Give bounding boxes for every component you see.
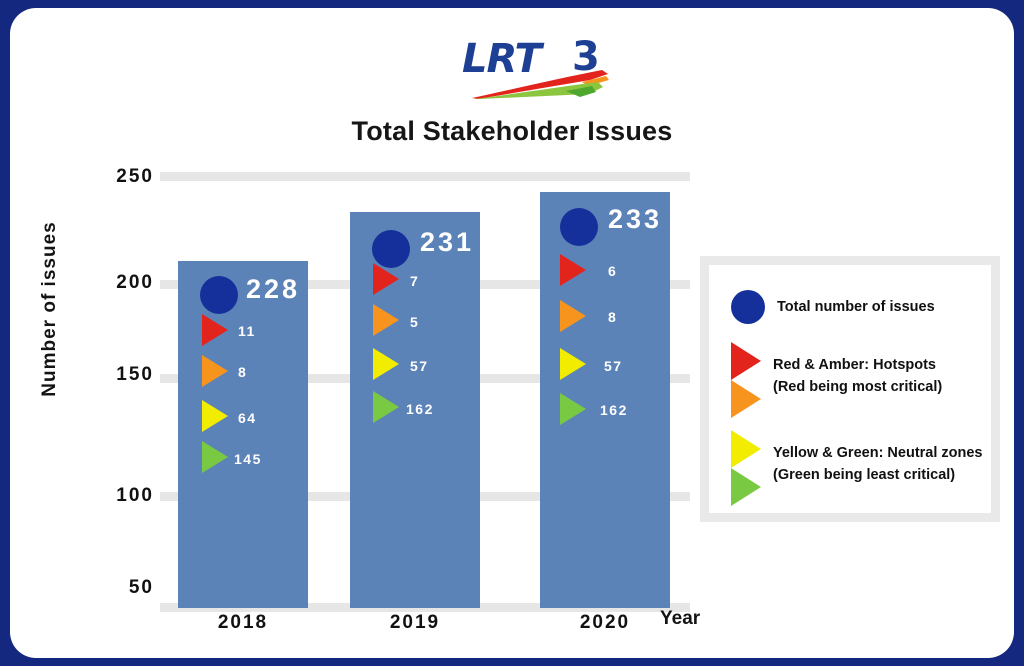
legend-neutral-sublabel: (Green being least critical): [773, 467, 955, 483]
marker-orange-2020: [560, 300, 586, 332]
bar-total-2020: 233: [608, 204, 662, 235]
value-orange-2018: 8: [238, 364, 247, 380]
marker-orange-2019: [373, 304, 399, 336]
value-green-2019: 162: [406, 401, 434, 417]
y-axis-ticks: 250 200 150 100 50: [94, 8, 154, 658]
chart-legend: Total number of issues Red & Amber: Hots…: [700, 256, 1000, 522]
y-tick-200: 200: [94, 272, 154, 294]
x-tick-2018: 2018: [178, 612, 308, 634]
value-green-2018: 145: [234, 451, 262, 467]
x-tick-2020: 2020: [540, 612, 670, 634]
y-tick-50: 50: [94, 577, 154, 599]
total-marker-2020: [560, 208, 598, 246]
x-tick-2019: 2019: [350, 612, 480, 634]
marker-green-2018: [202, 441, 228, 473]
marker-yellow-2018: [202, 400, 228, 432]
value-red-2019: 7: [410, 273, 419, 289]
value-red-2018: 11: [238, 323, 256, 339]
plot-area: 228 11 8 64 145 231 7 5 57 162 2: [160, 8, 690, 658]
legend-green-triangle-icon: [731, 468, 761, 506]
x-axis-label: Year: [660, 608, 700, 630]
marker-yellow-2020: [560, 348, 586, 380]
marker-green-2020: [560, 393, 586, 425]
marker-green-2019: [373, 391, 399, 423]
value-yellow-2018: 64: [238, 410, 257, 426]
legend-hotspots-label: Red & Amber: Hotspots: [773, 357, 936, 373]
bar-total-2018: 228: [246, 274, 300, 305]
legend-neutral-label: Yellow & Green: Neutral zones: [773, 445, 983, 461]
marker-orange-2018: [202, 355, 228, 387]
legend-hotspots-sublabel: (Red being most critical): [773, 379, 942, 395]
y-axis-label: Number of issues: [39, 199, 61, 419]
chart-canvas: LRT 3 Total Stakeholder Issues Number of…: [10, 8, 1014, 658]
y-tick-100: 100: [94, 485, 154, 507]
value-orange-2019: 5: [410, 314, 419, 330]
poster-frame: LRT 3 Total Stakeholder Issues Number of…: [0, 0, 1024, 666]
legend-orange-triangle-icon: [731, 380, 761, 418]
legend-total-label: Total number of issues: [777, 299, 935, 315]
gridline-250: [160, 172, 690, 181]
marker-yellow-2019: [373, 348, 399, 380]
bar-total-2019: 231: [420, 227, 474, 258]
legend-red-triangle-icon: [731, 342, 761, 380]
marker-red-2018: [202, 314, 228, 346]
legend-circle-icon: [731, 290, 765, 324]
value-red-2020: 6: [608, 263, 617, 279]
marker-red-2020: [560, 254, 586, 286]
value-green-2020: 162: [600, 402, 628, 418]
value-yellow-2020: 57: [604, 358, 623, 374]
value-yellow-2019: 57: [410, 358, 429, 374]
value-orange-2020: 8: [608, 309, 617, 325]
y-tick-150: 150: [94, 364, 154, 386]
marker-red-2019: [373, 263, 399, 295]
legend-yellow-triangle-icon: [731, 430, 761, 468]
y-tick-250: 250: [94, 166, 154, 188]
bar-2018[interactable]: [178, 261, 308, 608]
total-marker-2018: [200, 276, 238, 314]
